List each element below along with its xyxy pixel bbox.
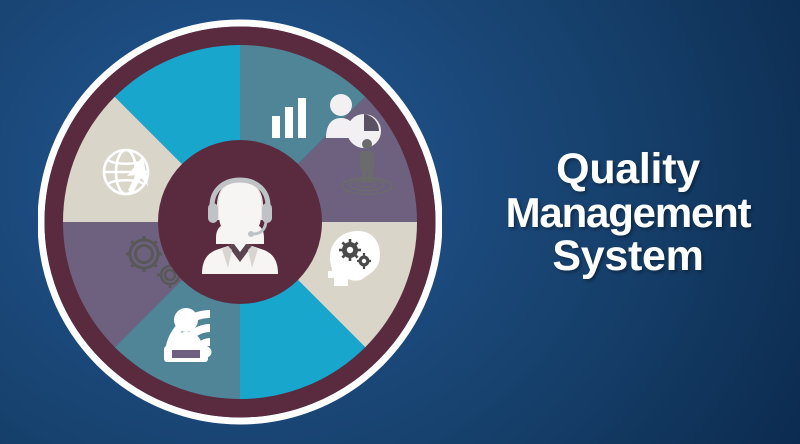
title-line-3: System — [468, 235, 788, 279]
page-title: Quality Management System — [468, 148, 788, 279]
quality-management-wheel — [38, 18, 442, 426]
title-line-2: Management — [468, 192, 788, 235]
infographic-canvas: Quality Management System — [0, 0, 800, 444]
title-line-1: Quality — [468, 148, 788, 192]
